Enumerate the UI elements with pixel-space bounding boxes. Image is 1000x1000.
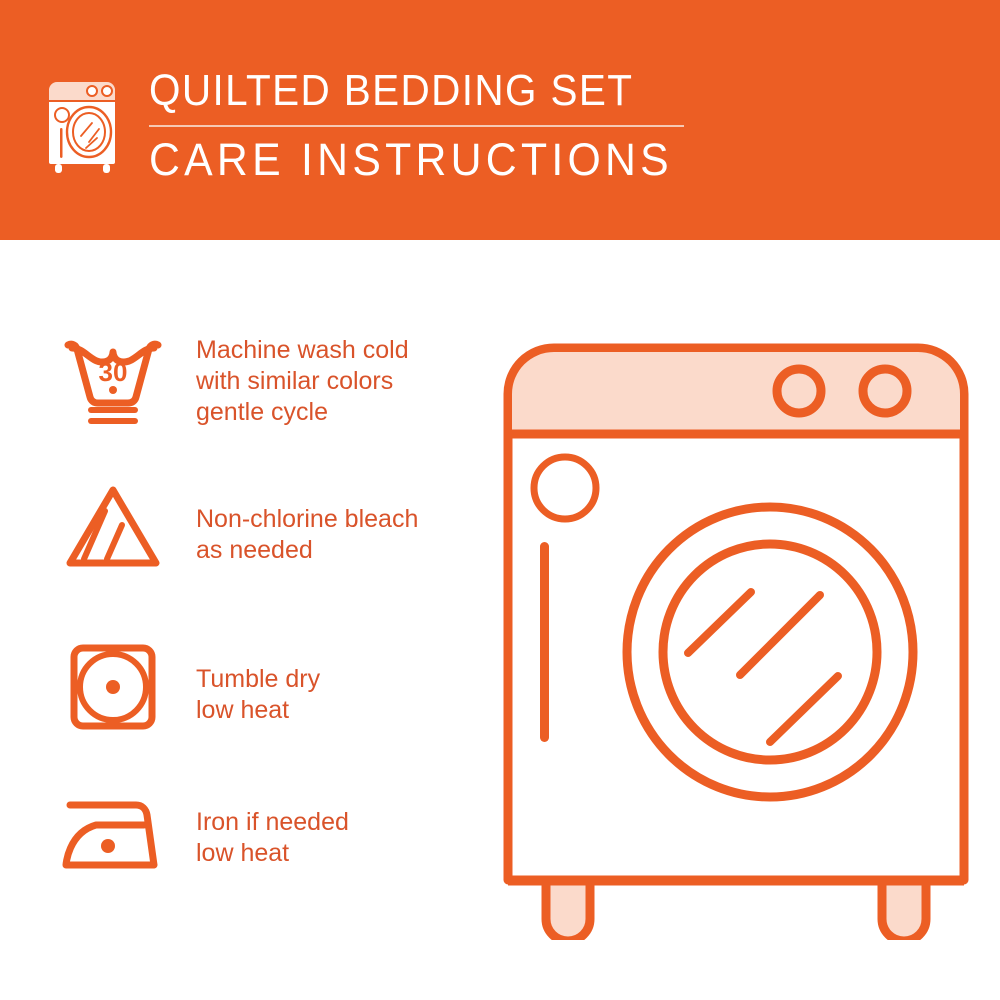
iron-icon [48,785,178,880]
care-item-tumble-dry: Tumble dry low heat [48,640,320,735]
washing-machine-icon [45,70,127,174]
header-text-block: QUILTED BEDDING SET CARE INSTRUCTIONS [149,66,701,185]
leg-left [546,881,590,940]
care-item-bleach-label: Non-chlorine bleach as needed [196,480,418,566]
washing-machine-illustration [490,330,980,940]
care-item-wash-label: Machine wash cold with similar colors ge… [196,335,409,428]
door-inner-ring [663,544,877,760]
header-divider [149,125,684,127]
care-item-iron: Iron if needed low heat [48,785,349,880]
tumble-dry-icon [48,640,178,735]
header-content: QUILTED BEDDING SET CARE INSTRUCTIONS [45,66,701,185]
care-item-bleach: Non-chlorine bleach as needed [48,480,418,575]
care-item-wash: 30 Machine wash cold with similar colors… [48,335,409,430]
dial-left [777,369,821,413]
wash-tub-icon: 30 [48,335,178,430]
care-item-iron-label: Iron if needed low heat [196,785,349,869]
detergent-slot [540,542,549,742]
wash-temperature-value: 30 [99,357,128,387]
page-subtitle: CARE INSTRUCTIONS [149,135,673,185]
dial-right [863,369,907,413]
indicator-light [534,457,596,519]
leg-right [882,881,926,940]
page-title: QUILTED BEDDING SET [149,66,656,116]
care-item-tumble-dry-label: Tumble dry low heat [196,640,320,726]
bleach-triangle-icon [48,480,178,575]
header-banner: QUILTED BEDDING SET CARE INSTRUCTIONS [0,0,1000,240]
care-instructions-list: 30 Machine wash cold with similar colors… [0,240,500,1000]
